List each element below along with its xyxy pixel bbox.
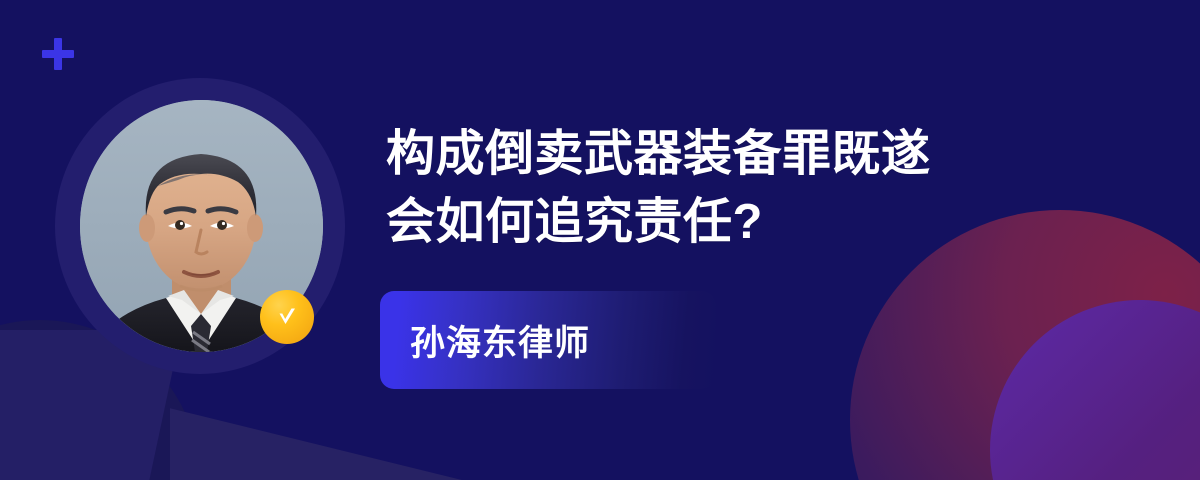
verified-check-icon — [260, 290, 314, 344]
lawyer-question-banner: 构成倒卖武器装备罪既遂 会如何追究责任? 孙海东律师 — [0, 0, 1200, 480]
lawyer-name-label: 孙海东律师 — [410, 315, 590, 366]
page-title: 构成倒卖武器装备罪既遂 会如何追究责任? — [386, 120, 1176, 256]
headline-block: 构成倒卖武器装备罪既遂 会如何追究责任? — [386, 120, 1176, 256]
avatar — [55, 78, 345, 378]
plus-icon — [42, 38, 74, 70]
lawyer-name-badge[interactable]: 孙海东律师 — [380, 291, 716, 389]
triangle-decoration-middle — [170, 392, 470, 480]
